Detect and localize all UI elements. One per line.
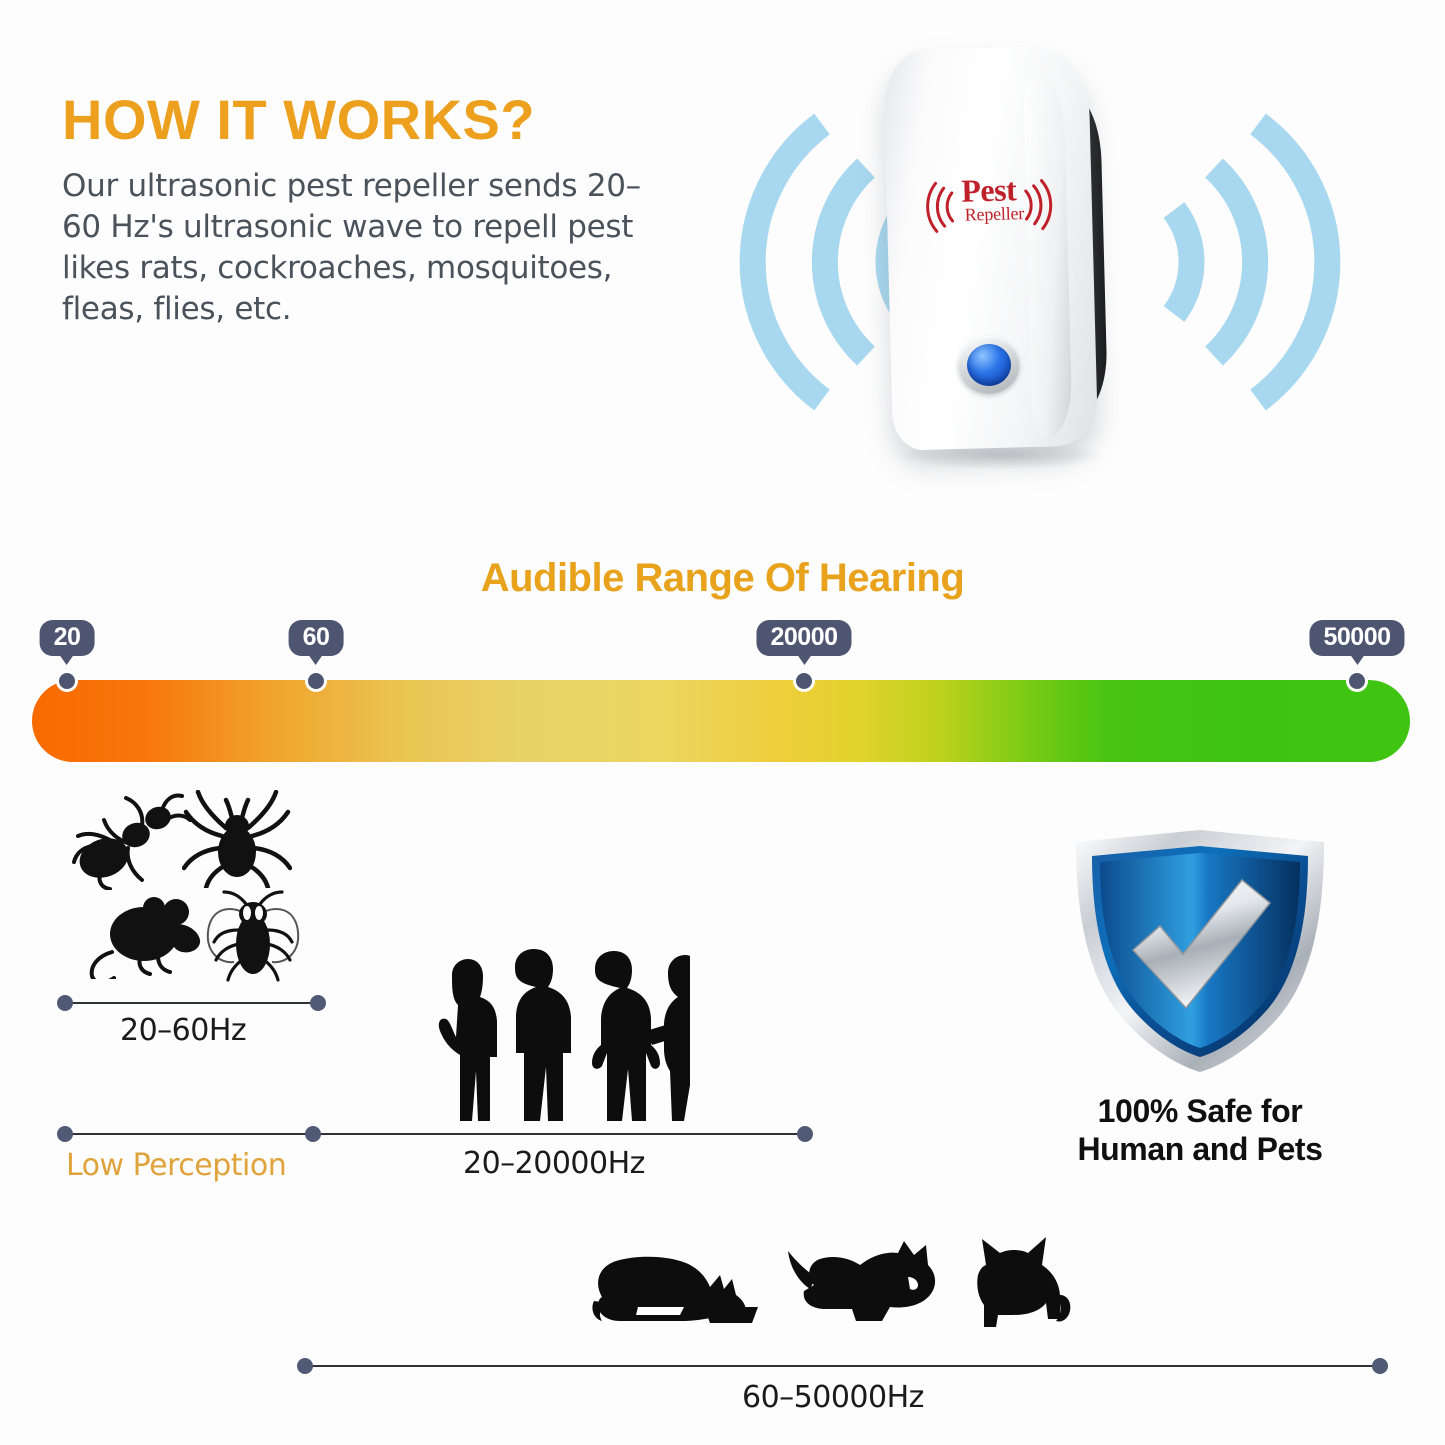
person-man-icon — [515, 949, 571, 1121]
sound-wave-right-icon — [1160, 82, 1410, 447]
cat-standing-icon — [977, 1237, 1070, 1327]
range-line-dot — [797, 1126, 813, 1142]
ant-icon — [70, 790, 195, 890]
range-line-humans — [65, 1133, 805, 1135]
spectrum-title: Audible Range Of Hearing — [0, 556, 1445, 601]
spectrum-marker-label: 60 — [289, 620, 344, 656]
intro-paragraph: Our ultrasonic pest repeller sends 20–60… — [62, 166, 662, 330]
dog-lying-icon — [788, 1241, 935, 1321]
range-line-dot — [57, 1126, 73, 1142]
rat-icon — [88, 894, 213, 979]
human-icon-group — [420, 945, 690, 1125]
range-line-dot — [305, 1126, 321, 1142]
range-label-pests: 20–60Hz — [120, 1013, 246, 1048]
pest-icon-group — [70, 790, 320, 980]
spectrum-marker-dot — [1346, 670, 1368, 692]
cockroach-icon — [202, 888, 304, 982]
pet-icon-group — [580, 1235, 1090, 1350]
device-logo: Pest Repeller — [923, 174, 1054, 225]
page-title: HOW IT WORKS? — [62, 92, 662, 148]
range-line-pests — [65, 1002, 318, 1004]
spectrum-marker-dot — [56, 670, 78, 692]
range-line-pets — [305, 1365, 1380, 1367]
safety-badge: 100% Safe for Human and Pets — [1020, 820, 1380, 1169]
range-line-dot — [57, 995, 73, 1011]
cat-eating-icon — [592, 1257, 758, 1323]
frequency-spectrum: 20 60 20000 50000 — [0, 620, 1445, 770]
range-label-humans: 20–20000Hz — [463, 1146, 645, 1181]
spectrum-marker-dot — [793, 670, 815, 692]
intro-block: HOW IT WORKS? Our ultrasonic pest repell… — [62, 92, 662, 330]
person-woman-icon — [646, 955, 690, 1121]
spectrum-marker-label: 20 — [40, 620, 95, 656]
shield-check-icon — [1020, 820, 1380, 1078]
device-illustration: Pest Repeller — [660, 30, 1430, 510]
range-label-low-perception: Low Perception — [66, 1148, 286, 1183]
safety-badge-caption: 100% Safe for Human and Pets — [1020, 1092, 1380, 1169]
range-line-dot — [310, 995, 326, 1011]
pest-repeller-device: Pest Repeller — [888, 48, 1118, 458]
safety-caption-line2: Human and Pets — [1020, 1130, 1380, 1168]
range-label-pets: 60–50000Hz — [742, 1380, 924, 1415]
spider-icon — [182, 790, 292, 888]
spectrum-marker-dot — [305, 670, 327, 692]
spectrum-marker-label: 20000 — [756, 620, 851, 656]
safety-caption-line1: 100% Safe for — [1020, 1092, 1380, 1130]
spectrum-marker-label: 50000 — [1309, 620, 1404, 656]
range-line-dot — [1372, 1358, 1388, 1374]
range-line-dot — [297, 1358, 313, 1374]
person-woman-icon — [439, 959, 497, 1121]
spectrum-gradient-bar — [32, 680, 1410, 762]
sound-wave-left-icon — [670, 82, 920, 447]
